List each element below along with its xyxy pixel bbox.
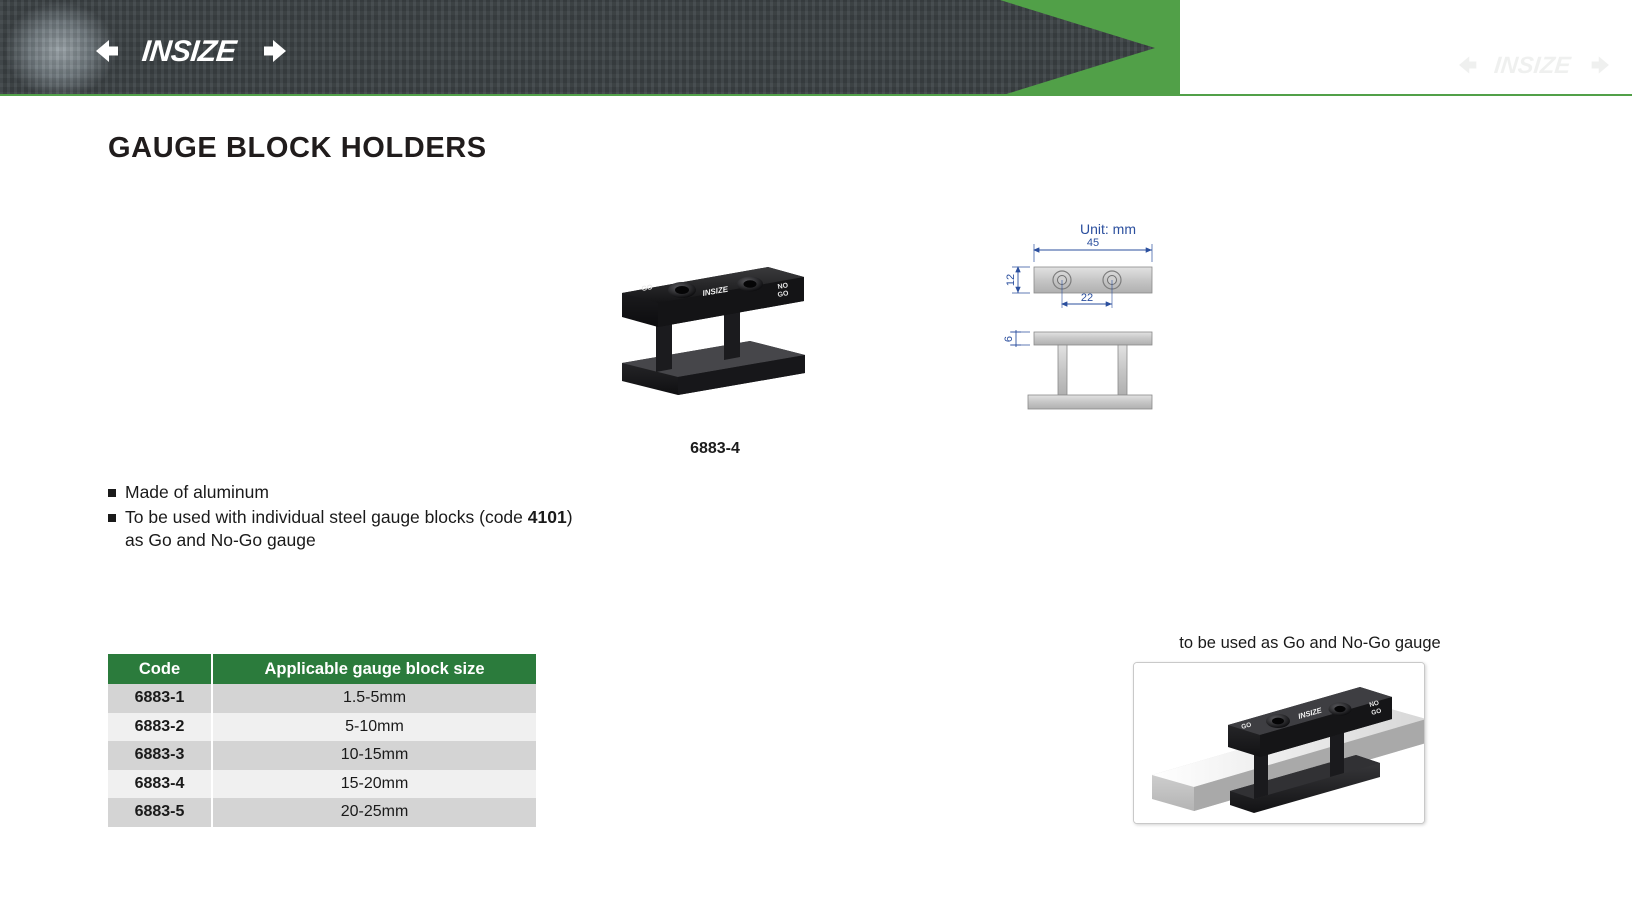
cell-code: 6883-3 <box>108 741 212 770</box>
insize-logo: INSIZE <box>96 32 286 70</box>
header-white-area <box>1180 0 1632 96</box>
product-photo: GO NO GO INSIZE <box>600 245 830 415</box>
table-row: 6883-1 1.5-5mm <box>108 684 536 713</box>
bullet-square-icon <box>108 489 116 497</box>
bullet-square-icon <box>108 514 116 522</box>
technical-drawing: 45 12 22 6 <box>990 212 1200 427</box>
feature-item: Made of aluminum <box>108 481 578 505</box>
cell-size: 20-25mm <box>212 798 536 827</box>
dimension-hole-spacing: 22 <box>1081 292 1093 304</box>
application-caption: to be used as Go and No-Go gauge <box>1100 634 1520 653</box>
insize-watermark-icon: INSIZE <box>1454 50 1614 80</box>
page-title: GAUGE BLOCK HOLDERS <box>108 132 487 165</box>
cell-size: 15-20mm <box>212 770 536 799</box>
cell-code: 6883-5 <box>108 798 212 827</box>
application-photo-frame: INSIZE GO NO GO INSIZE <box>1133 662 1425 824</box>
feature-text-2: To be used with individual steel gauge b… <box>125 506 578 553</box>
dimension-thickness: 6 <box>1003 336 1015 342</box>
cell-code: 6883-4 <box>108 770 212 799</box>
cell-size: 5-10mm <box>212 713 536 742</box>
table-row: 6883-4 15-20mm <box>108 770 536 799</box>
dimension-length: 45 <box>1087 237 1099 249</box>
catalog-page: INSIZE INSIZE GAUGE BLOCK HOLDERS <box>0 0 1632 912</box>
feature-item: To be used with individual steel gauge b… <box>108 506 578 553</box>
cell-code: 6883-2 <box>108 713 212 742</box>
application-photo: INSIZE GO NO GO INSIZE <box>1134 663 1425 824</box>
product-code-label: 6883-4 <box>600 440 830 458</box>
cell-code: 6883-1 <box>108 684 212 713</box>
svg-text:INSIZE: INSIZE <box>140 35 239 68</box>
feature-text-1: Made of aluminum <box>125 481 269 505</box>
feature-list: Made of aluminum To be used with individ… <box>108 481 578 554</box>
svg-text:INSIZE: INSIZE <box>1493 53 1573 79</box>
cell-size: 1.5-5mm <box>212 684 536 713</box>
specification-table: Code Applicable gauge block size 6883-1 … <box>108 654 536 827</box>
header-accent-rule <box>0 94 1632 96</box>
feature-code-reference: 4101 <box>528 507 567 527</box>
page-header: INSIZE INSIZE <box>0 0 1632 96</box>
cell-size: 10-15mm <box>212 741 536 770</box>
table-row: 6883-5 20-25mm <box>108 798 536 827</box>
table-row: 6883-2 5-10mm <box>108 713 536 742</box>
table-row: 6883-3 10-15mm <box>108 741 536 770</box>
table-header-row: Code Applicable gauge block size <box>108 654 536 684</box>
table-header-code: Code <box>108 654 212 684</box>
feature-text-2-before: To be used with individual steel gauge b… <box>125 507 528 527</box>
table-header-size: Applicable gauge block size <box>212 654 536 684</box>
dimension-height: 12 <box>1005 274 1017 286</box>
